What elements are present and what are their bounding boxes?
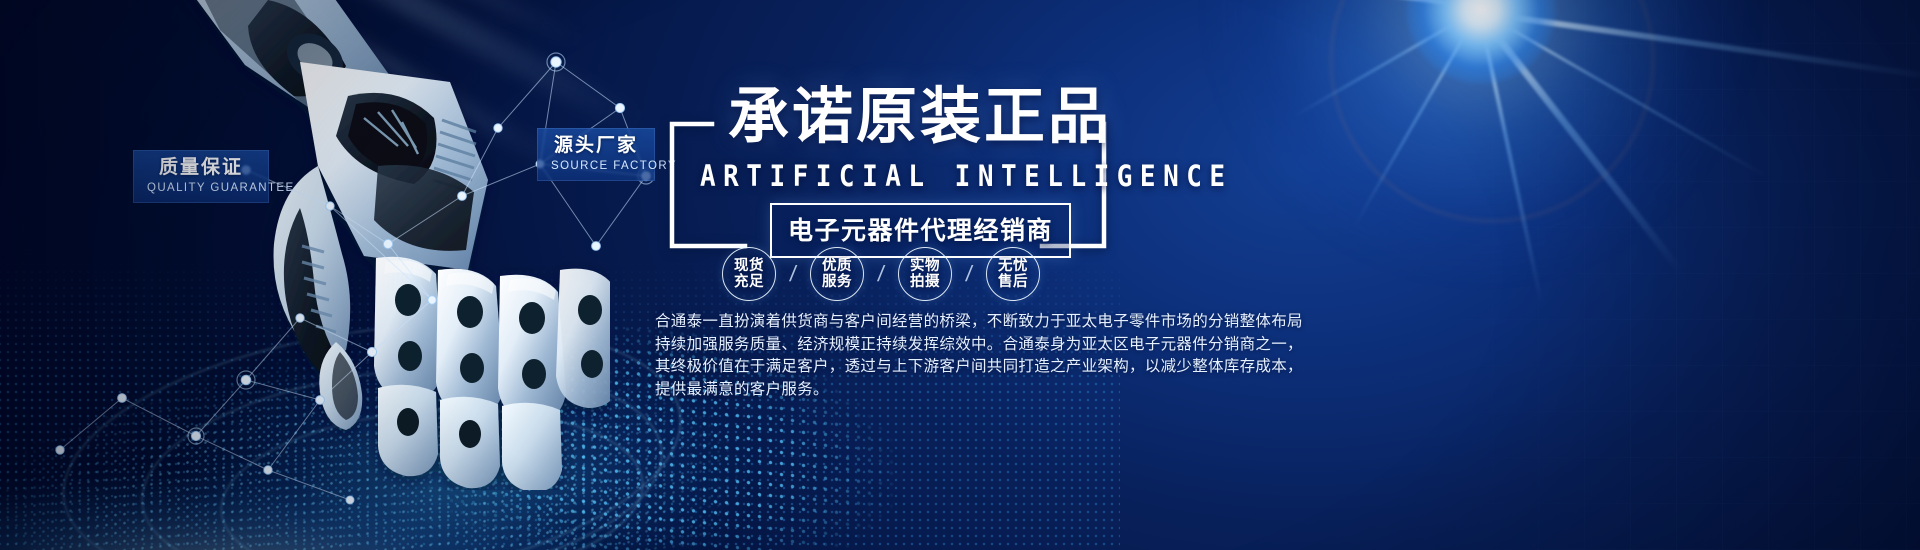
background-vignette [0,0,1920,550]
ai-components-banner: 质量保证 QUALITY GUARANTEE 源头厂家 SOURCE FACTO… [0,0,1920,550]
